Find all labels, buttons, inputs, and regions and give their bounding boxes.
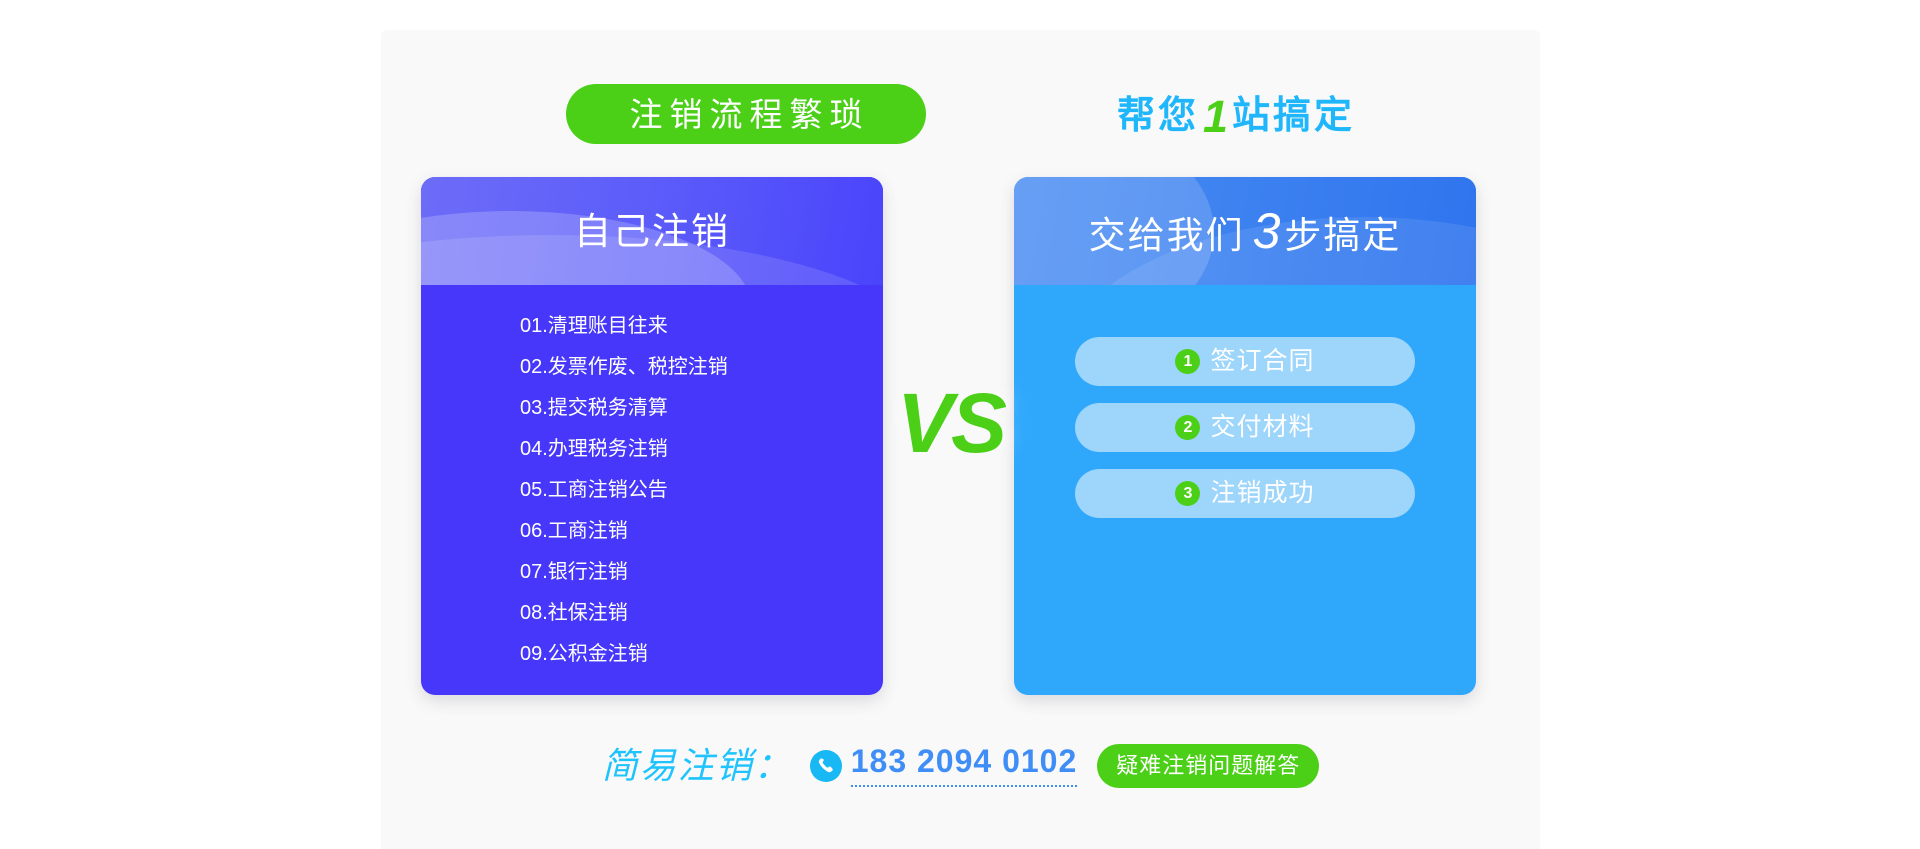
self-process-list: 01.清理账目往来 02.发票作废、税控注销 03.提交税务清算 04.办理税务…	[421, 285, 883, 664]
service-steps-list: 1 签订合同 2 交付材料 3 注销成功	[1014, 285, 1476, 518]
phone-number[interactable]: 183 2094 0102	[851, 745, 1078, 787]
list-item: 06.工商注销	[421, 521, 883, 541]
card-self-deregistration: 自己注销 01.清理账目往来 02.发票作废、税控注销 03.提交税务清算 04…	[421, 177, 883, 695]
step-number-badge: 1	[1175, 349, 1200, 374]
step-label: 签订合同	[1210, 349, 1314, 374]
step-number-badge: 3	[1175, 481, 1200, 506]
footer-contact-bar: 简易注销： 183 2094 0102 疑难注销问题解答	[381, 735, 1540, 797]
list-item: 04.办理税务注销	[421, 439, 883, 459]
step-pill-3[interactable]: 3 注销成功	[1075, 469, 1415, 518]
headline-number: 1	[1199, 94, 1232, 139]
list-item: 01.清理账目往来	[421, 316, 883, 336]
step-label: 交付材料	[1210, 415, 1314, 440]
list-item: 08.社保注销	[421, 603, 883, 623]
right-card-header: 交给我们 3 步搞定	[1014, 177, 1476, 285]
step-label: 注销成功	[1210, 481, 1314, 506]
list-item: 05.工商注销公告	[421, 480, 883, 500]
headline-one-stop: 帮您 1 站搞定	[1021, 86, 1451, 146]
step-pill-2[interactable]: 2 交付材料	[1075, 403, 1415, 452]
phone-icon	[810, 750, 842, 782]
badge-label: 注销流程繁琐	[623, 98, 870, 131]
headline-suffix: 站搞定	[1232, 97, 1355, 135]
right-card-title: 交给我们 3 步搞定	[1089, 206, 1402, 256]
right-card-title-prefix: 交给我们	[1089, 217, 1245, 254]
faq-button[interactable]: 疑难注销问题解答	[1097, 744, 1319, 788]
list-item: 09.公积金注销	[421, 644, 883, 664]
list-item: 03.提交税务清算	[421, 398, 883, 418]
headline-prefix: 帮您	[1117, 97, 1199, 135]
left-card-title-text: 自己注销	[574, 213, 730, 250]
vs-separator: VS	[886, 380, 1016, 466]
right-card-title-suffix: 步搞定	[1284, 217, 1401, 254]
footer-label: 简易注销：	[602, 748, 792, 784]
badge-complex-process: 注销流程繁琐	[566, 84, 926, 144]
header-row: 注销流程繁琐 帮您 1 站搞定	[381, 84, 1540, 150]
card-agency-service: 交给我们 3 步搞定 1 签订合同 2 交付材料 3 注销成功	[1014, 177, 1476, 695]
step-number-badge: 2	[1175, 415, 1200, 440]
right-card-title-number: 3	[1245, 206, 1285, 256]
left-card-header: 自己注销	[421, 177, 883, 285]
list-item: 07.银行注销	[421, 562, 883, 582]
phone-contact[interactable]: 183 2094 0102	[810, 745, 1078, 787]
step-pill-1[interactable]: 1 签订合同	[1075, 337, 1415, 386]
left-card-title: 自己注销	[574, 213, 730, 250]
page-root: 注销流程繁琐 帮您 1 站搞定 自己注销 01.清理账目往来 02.发票作废、税…	[0, 0, 1920, 849]
list-item: 02.发票作废、税控注销	[421, 357, 883, 377]
